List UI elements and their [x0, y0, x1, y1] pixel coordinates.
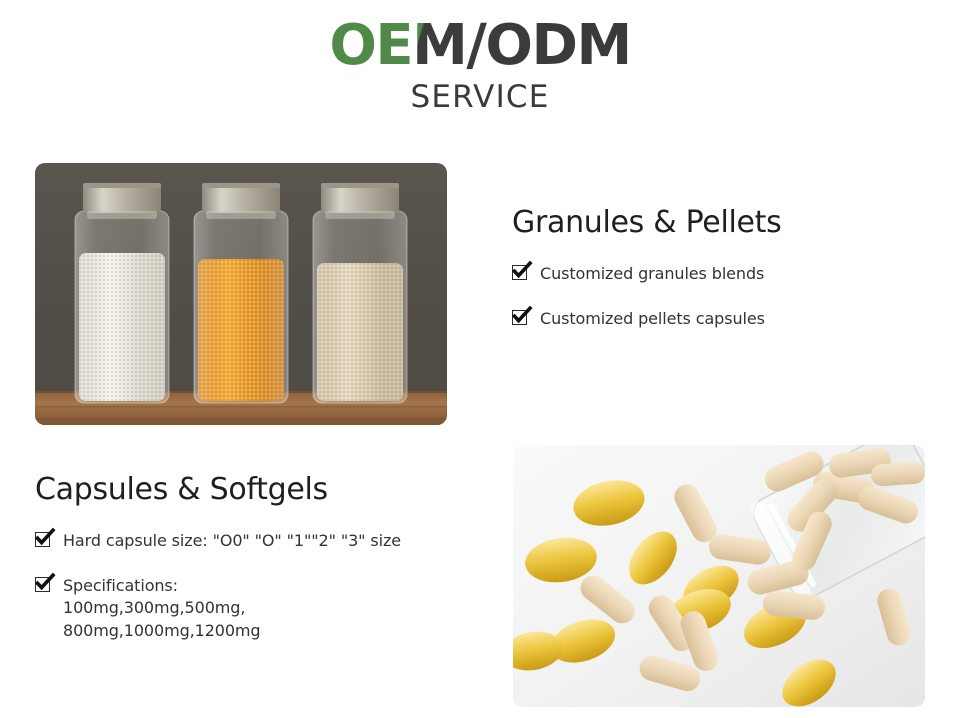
list-item: Customized granules blends: [512, 262, 925, 286]
list-item: Hard capsule size: "O0" "O" "1""2" "3" s…: [35, 529, 453, 553]
section-granules-pellets: Granules & Pellets Customized granules b…: [35, 163, 925, 425]
section-title-capsules-softgels: Capsules & Softgels: [35, 472, 453, 507]
list-item-label: Specifications: 100mg,300mg,500mg, 800mg…: [52, 574, 352, 643]
section-title-granules-pellets: Granules & Pellets: [512, 205, 925, 240]
checkbox-checked-icon: [512, 265, 529, 282]
checkbox-checked-icon: [35, 577, 52, 594]
list-item: Customized pellets capsules: [512, 307, 925, 331]
list-item-label: Customized granules blends: [529, 262, 764, 286]
page-subtitle: SERVICE: [0, 79, 960, 115]
glass-jars-with-pellets-photo: [35, 163, 447, 425]
granules-pellets-text: Granules & Pellets Customized granules b…: [447, 163, 925, 351]
title-wrap: OEM/ODM: [329, 16, 630, 75]
list-item-label: Customized pellets capsules: [529, 307, 765, 331]
capsules-softgels-bullet-list: Hard capsule size: "O0" "O" "1""2" "3" s…: [35, 529, 453, 643]
granules-pellets-bullet-list: Customized granules blends Customized pe…: [512, 262, 925, 330]
capsules-and-softgels-photo: [513, 445, 925, 707]
checkbox-checked-icon: [512, 310, 529, 327]
page-header: OEM/ODM SERVICE: [0, 0, 960, 115]
page-title: OEM/ODM: [329, 16, 630, 75]
list-item: Specifications: 100mg,300mg,500mg, 800mg…: [35, 574, 453, 643]
checkbox-checked-icon: [35, 532, 52, 549]
capsules-softgels-text: Capsules & Softgels Hard capsule size: "…: [35, 445, 513, 664]
list-item-label: Hard capsule size: "O0" "O" "1""2" "3" s…: [52, 529, 401, 553]
section-capsules-softgels: Capsules & Softgels Hard capsule size: "…: [35, 445, 925, 707]
